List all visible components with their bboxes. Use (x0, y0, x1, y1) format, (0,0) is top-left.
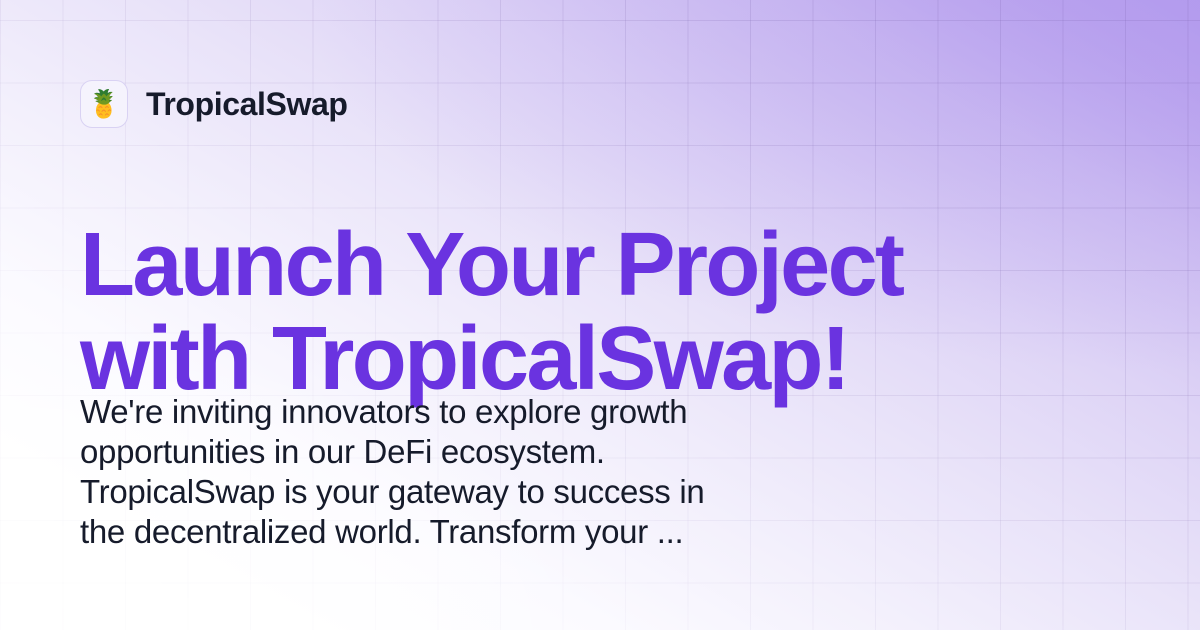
pineapple-glyph: 🍍 (87, 91, 121, 118)
card-content: 🍍 TropicalSwap Launch Your Project with … (80, 0, 1120, 630)
description-text: We're inviting innovators to explore gro… (80, 392, 840, 552)
brand-name: TropicalSwap (146, 86, 347, 123)
brand-header: 🍍 TropicalSwap (80, 80, 347, 128)
page-title: Launch Your Project with TropicalSwap! (80, 218, 1040, 406)
description-line-2: opportunities in our DeFi ecosystem. (80, 432, 840, 472)
pineapple-icon: 🍍 (80, 80, 128, 128)
og-preview-card: 🍍 TropicalSwap Launch Your Project with … (0, 0, 1200, 630)
description-line-3: TropicalSwap is your gateway to success … (80, 472, 840, 512)
description-line-4: the decentralized world. Transform your … (80, 512, 840, 552)
description-line-1: We're inviting innovators to explore gro… (80, 392, 840, 432)
headline-line-1: Launch Your Project (80, 218, 1040, 312)
